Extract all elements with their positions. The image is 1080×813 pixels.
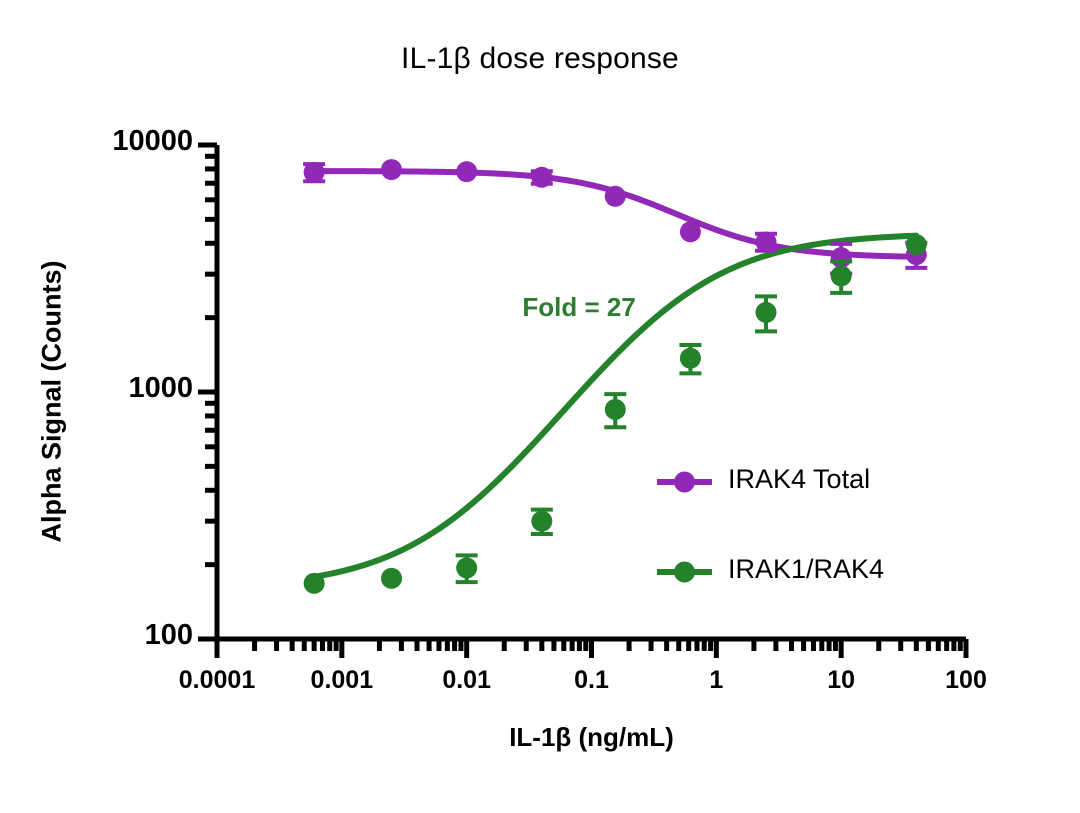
data-point-irak4-total <box>605 186 626 207</box>
x-tick-label: 100 <box>866 666 1066 695</box>
y-tick-label: 100 <box>145 619 193 652</box>
data-point-irak4-total <box>456 161 477 182</box>
data-point-irak1-rak4 <box>680 348 701 369</box>
legend-marker-1 <box>674 562 695 583</box>
chart-figure: IL-1β dose response Alpha Signal (Counts… <box>0 0 1080 813</box>
data-point-irak1-rak4 <box>381 568 402 589</box>
data-point-irak4-total <box>756 231 777 252</box>
data-point-irak1-rak4 <box>456 557 477 578</box>
data-point-irak1-rak4 <box>531 511 552 532</box>
legend-label-0: IRAK4 Total <box>728 464 870 495</box>
data-point-irak1-rak4 <box>605 399 626 420</box>
legend-label-1: IRAK1/RAK4 <box>728 554 884 585</box>
data-point-irak1-rak4 <box>756 302 777 323</box>
data-point-irak4-total <box>680 221 701 242</box>
data-point-irak1-rak4 <box>304 573 325 594</box>
data-point-irak4-total <box>381 159 402 180</box>
y-tick-label: 10000 <box>112 125 193 158</box>
data-point-irak1-rak4 <box>831 265 852 286</box>
legend-marker-0 <box>674 472 695 493</box>
data-point-irak4-total <box>531 167 552 188</box>
fold-annotation: Fold = 27 <box>479 292 679 323</box>
data-point-irak1-rak4 <box>906 234 927 255</box>
y-tick-label: 1000 <box>128 372 193 405</box>
data-point-irak4-total <box>304 162 325 183</box>
